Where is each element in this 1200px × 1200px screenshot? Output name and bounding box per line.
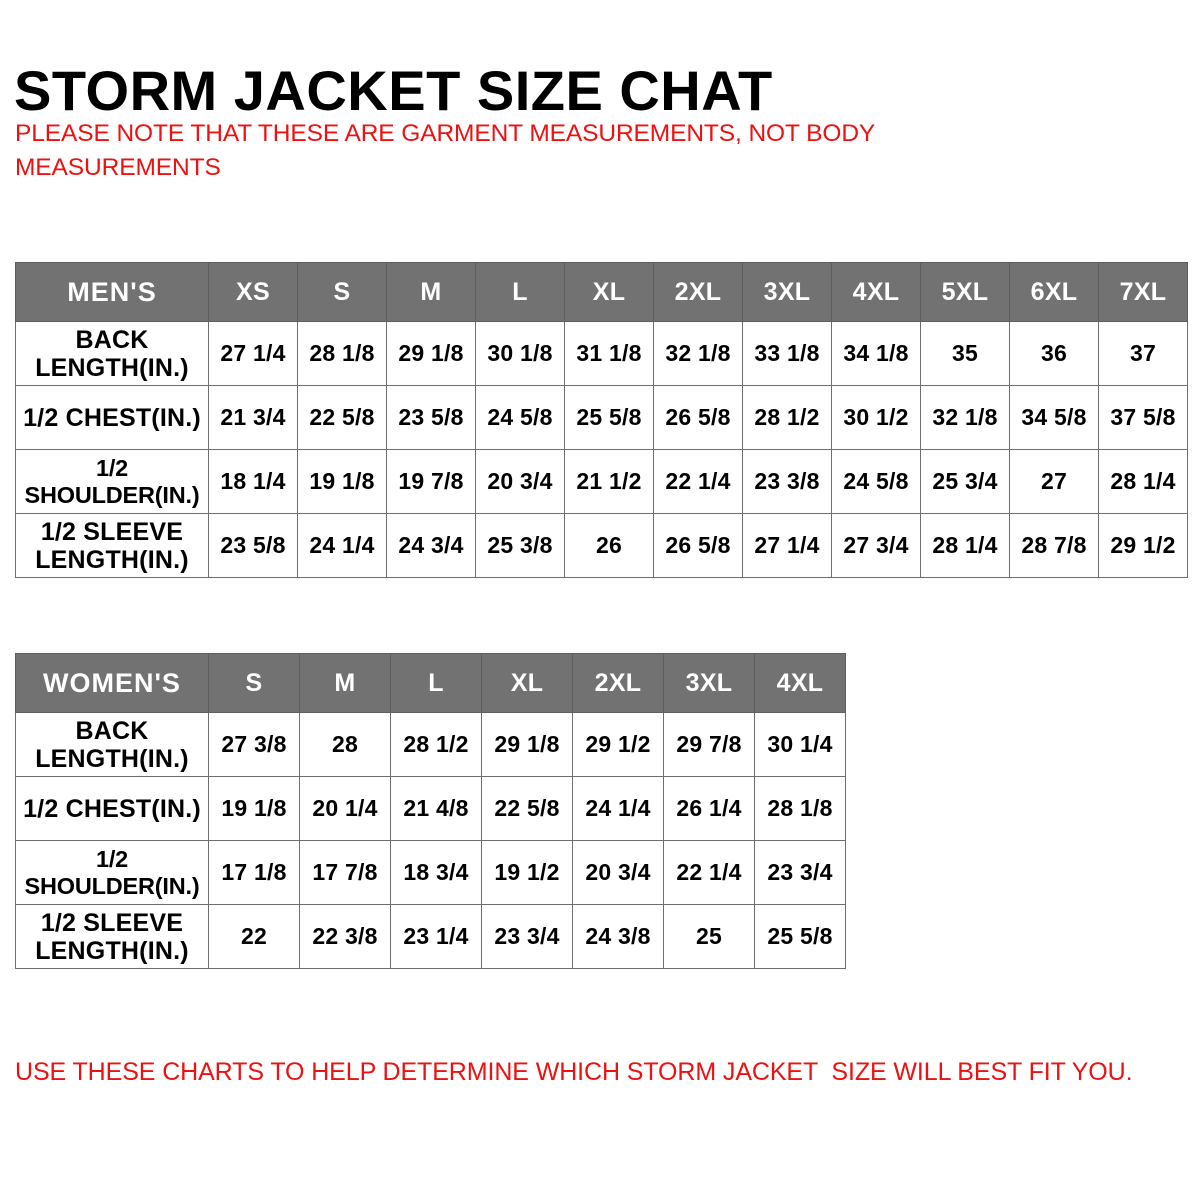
measure-label-line: BACK bbox=[75, 717, 148, 745]
measure-label-line: 1/2 SLEEVE bbox=[41, 518, 183, 546]
mens-measure-label-1: 1/2 CHEST(IN.) bbox=[16, 386, 209, 450]
measurement-cell: 18 1/4 bbox=[209, 450, 298, 514]
womens-measure-label-2: 1/2 SHOULDER(IN.) bbox=[16, 841, 209, 905]
measurement-cell: 29 1/2 bbox=[573, 713, 664, 777]
measurement-cell: 24 1/4 bbox=[573, 777, 664, 841]
measure-label-line: 1/2 SLEEVE bbox=[41, 909, 183, 937]
measure-label-line: LENGTH(IN.) bbox=[35, 937, 189, 965]
womens-table-body: BACKLENGTH(IN.)27 3/82828 1/229 1/829 1/… bbox=[16, 713, 846, 969]
measurement-cell: 27 3/4 bbox=[832, 514, 921, 578]
measurement-cell: 28 7/8 bbox=[1010, 514, 1099, 578]
measurement-cell: 35 bbox=[921, 322, 1010, 386]
measurement-cell: 22 3/8 bbox=[300, 905, 391, 969]
size-chart-page: STORM JACKET SIZE CHAT PLEASE NOTE THAT … bbox=[0, 0, 1200, 1200]
womens-measure-label-1: 1/2 CHEST(IN.) bbox=[16, 777, 209, 841]
measurement-cell: 32 1/8 bbox=[654, 322, 743, 386]
mens-measure-label-2: 1/2 SHOULDER(IN.) bbox=[16, 450, 209, 514]
table-row: 1/2 CHEST(IN.)21 3/422 5/823 5/824 5/825… bbox=[16, 386, 1188, 450]
measurement-cell: 27 bbox=[1010, 450, 1099, 514]
measurement-cell: 26 1/4 bbox=[664, 777, 755, 841]
table-row: 1/2 SLEEVELENGTH(IN.)2222 3/823 1/423 3/… bbox=[16, 905, 846, 969]
table-row: 1/2 SHOULDER(IN.)18 1/419 1/819 7/820 3/… bbox=[16, 450, 1188, 514]
table-row: 1/2 SHOULDER(IN.)17 1/817 7/818 3/419 1/… bbox=[16, 841, 846, 905]
womens-size-header-2xl: 2XL bbox=[573, 654, 664, 713]
measurement-cell: 20 3/4 bbox=[476, 450, 565, 514]
measurement-cell: 25 5/8 bbox=[755, 905, 846, 969]
measurement-cell: 28 1/8 bbox=[298, 322, 387, 386]
measurement-cell: 24 3/4 bbox=[387, 514, 476, 578]
measurement-cell: 27 1/4 bbox=[209, 322, 298, 386]
measurement-cell: 37 5/8 bbox=[1099, 386, 1188, 450]
measurement-cell: 23 5/8 bbox=[387, 386, 476, 450]
measure-label-line: 1/2 CHEST(IN.) bbox=[23, 795, 201, 823]
womens-header-row: WOMEN'SSMLXL2XL3XL4XL bbox=[16, 654, 846, 713]
womens-size-header-l: L bbox=[391, 654, 482, 713]
measurement-cell: 31 1/8 bbox=[565, 322, 654, 386]
measurement-cell: 19 1/8 bbox=[298, 450, 387, 514]
measurement-cell: 28 1/4 bbox=[921, 514, 1010, 578]
womens-size-header-m: M bbox=[300, 654, 391, 713]
measurement-cell: 34 1/8 bbox=[832, 322, 921, 386]
measurement-cell: 28 1/2 bbox=[743, 386, 832, 450]
measure-label-line: 1/2 CHEST(IN.) bbox=[23, 404, 201, 432]
measurement-cell: 22 1/4 bbox=[664, 841, 755, 905]
mens-size-header-l: L bbox=[476, 263, 565, 322]
measurement-cell: 27 1/4 bbox=[743, 514, 832, 578]
measurement-cell: 25 5/8 bbox=[565, 386, 654, 450]
measurement-cell: 20 1/4 bbox=[300, 777, 391, 841]
measurement-cell: 24 1/4 bbox=[298, 514, 387, 578]
measurement-cell: 30 1/8 bbox=[476, 322, 565, 386]
measurement-cell: 30 1/4 bbox=[755, 713, 846, 777]
measure-label-line: 1/2 SHOULDER(IN.) bbox=[25, 846, 200, 898]
measurement-cell: 28 1/4 bbox=[1099, 450, 1188, 514]
measurement-cell: 21 1/2 bbox=[565, 450, 654, 514]
measure-label-line: 1/2 SHOULDER(IN.) bbox=[25, 455, 200, 507]
page-title: STORM JACKET SIZE CHAT bbox=[14, 62, 773, 121]
measurement-cell: 23 3/4 bbox=[482, 905, 573, 969]
measurement-cell: 26 5/8 bbox=[654, 514, 743, 578]
measure-label-line: LENGTH(IN.) bbox=[35, 745, 189, 773]
measurement-cell: 19 1/8 bbox=[209, 777, 300, 841]
measurement-cell: 30 1/2 bbox=[832, 386, 921, 450]
measurement-cell: 18 3/4 bbox=[391, 841, 482, 905]
help-determine-note: USE THESE CHARTS TO HELP DETERMINE WHICH… bbox=[15, 1058, 1175, 1087]
measure-label-line: BACK bbox=[75, 326, 148, 354]
mens-table-head: MEN'SXSSMLXL2XL3XL4XL5XL6XL7XL bbox=[16, 263, 1188, 322]
mens-size-header-s: S bbox=[298, 263, 387, 322]
measurement-cell: 22 5/8 bbox=[298, 386, 387, 450]
measurement-cell: 28 bbox=[300, 713, 391, 777]
womens-size-header-3xl: 3XL bbox=[664, 654, 755, 713]
measurement-cell: 17 1/8 bbox=[209, 841, 300, 905]
womens-size-header-4xl: 4XL bbox=[755, 654, 846, 713]
measurement-cell: 20 3/4 bbox=[573, 841, 664, 905]
measurement-cell: 22 5/8 bbox=[482, 777, 573, 841]
table-row: 1/2 SLEEVELENGTH(IN.)23 5/824 1/424 3/42… bbox=[16, 514, 1188, 578]
measurement-cell: 29 7/8 bbox=[664, 713, 755, 777]
measurement-cell: 21 3/4 bbox=[209, 386, 298, 450]
womens-table-title: WOMEN'S bbox=[16, 654, 209, 713]
table-row: BACKLENGTH(IN.)27 1/428 1/829 1/830 1/83… bbox=[16, 322, 1188, 386]
measurement-cell: 26 5/8 bbox=[654, 386, 743, 450]
measurement-cell: 28 1/2 bbox=[391, 713, 482, 777]
mens-size-header-4xl: 4XL bbox=[832, 263, 921, 322]
mens-size-header-5xl: 5XL bbox=[921, 263, 1010, 322]
measurement-cell: 23 3/4 bbox=[755, 841, 846, 905]
measurement-cell: 29 1/8 bbox=[387, 322, 476, 386]
table-row: 1/2 CHEST(IN.)19 1/820 1/421 4/822 5/824… bbox=[16, 777, 846, 841]
measure-label-line: LENGTH(IN.) bbox=[35, 546, 189, 574]
measurement-cell: 29 1/8 bbox=[482, 713, 573, 777]
garment-measurement-note: PLEASE NOTE THAT THESE ARE GARMENT MEASU… bbox=[15, 117, 1025, 185]
measurement-cell: 21 4/8 bbox=[391, 777, 482, 841]
mens-size-header-6xl: 6XL bbox=[1010, 263, 1099, 322]
mens-table-body: BACKLENGTH(IN.)27 1/428 1/829 1/830 1/83… bbox=[16, 322, 1188, 578]
measurement-cell: 34 5/8 bbox=[1010, 386, 1099, 450]
measure-label-line: LENGTH(IN.) bbox=[35, 354, 189, 382]
measurement-cell: 37 bbox=[1099, 322, 1188, 386]
measurement-cell: 19 7/8 bbox=[387, 450, 476, 514]
mens-size-header-3xl: 3XL bbox=[743, 263, 832, 322]
measurement-cell: 17 7/8 bbox=[300, 841, 391, 905]
mens-table-title: MEN'S bbox=[16, 263, 209, 322]
womens-size-header-s: S bbox=[209, 654, 300, 713]
measurement-cell: 25 3/8 bbox=[476, 514, 565, 578]
table-row: BACKLENGTH(IN.)27 3/82828 1/229 1/829 1/… bbox=[16, 713, 846, 777]
mens-size-header-7xl: 7XL bbox=[1099, 263, 1188, 322]
measurement-cell: 25 3/4 bbox=[921, 450, 1010, 514]
measurement-cell: 23 5/8 bbox=[209, 514, 298, 578]
measurement-cell: 23 3/8 bbox=[743, 450, 832, 514]
measurement-cell: 26 bbox=[565, 514, 654, 578]
measurement-cell: 23 1/4 bbox=[391, 905, 482, 969]
measurement-cell: 29 1/2 bbox=[1099, 514, 1188, 578]
measurement-cell: 24 5/8 bbox=[832, 450, 921, 514]
measurement-cell: 25 bbox=[664, 905, 755, 969]
womens-measure-label-3: 1/2 SLEEVELENGTH(IN.) bbox=[16, 905, 209, 969]
measurement-cell: 28 1/8 bbox=[755, 777, 846, 841]
mens-size-header-2xl: 2XL bbox=[654, 263, 743, 322]
womens-table-head: WOMEN'SSMLXL2XL3XL4XL bbox=[16, 654, 846, 713]
measurement-cell: 24 5/8 bbox=[476, 386, 565, 450]
measurement-cell: 24 3/8 bbox=[573, 905, 664, 969]
mens-size-table: MEN'SXSSMLXL2XL3XL4XL5XL6XL7XL BACKLENGT… bbox=[15, 262, 1188, 578]
womens-size-table: WOMEN'SSMLXL2XL3XL4XL BACKLENGTH(IN.)27 … bbox=[15, 653, 846, 969]
womens-size-header-xl: XL bbox=[482, 654, 573, 713]
womens-measure-label-0: BACKLENGTH(IN.) bbox=[16, 713, 209, 777]
measurement-cell: 19 1/2 bbox=[482, 841, 573, 905]
mens-header-row: MEN'SXSSMLXL2XL3XL4XL5XL6XL7XL bbox=[16, 263, 1188, 322]
mens-size-header-xl: XL bbox=[565, 263, 654, 322]
measurement-cell: 33 1/8 bbox=[743, 322, 832, 386]
mens-measure-label-0: BACKLENGTH(IN.) bbox=[16, 322, 209, 386]
measurement-cell: 22 bbox=[209, 905, 300, 969]
measurement-cell: 22 1/4 bbox=[654, 450, 743, 514]
measurement-cell: 27 3/8 bbox=[209, 713, 300, 777]
measurement-cell: 36 bbox=[1010, 322, 1099, 386]
mens-size-header-m: M bbox=[387, 263, 476, 322]
mens-size-header-xs: XS bbox=[209, 263, 298, 322]
measurement-cell: 32 1/8 bbox=[921, 386, 1010, 450]
mens-measure-label-3: 1/2 SLEEVELENGTH(IN.) bbox=[16, 514, 209, 578]
